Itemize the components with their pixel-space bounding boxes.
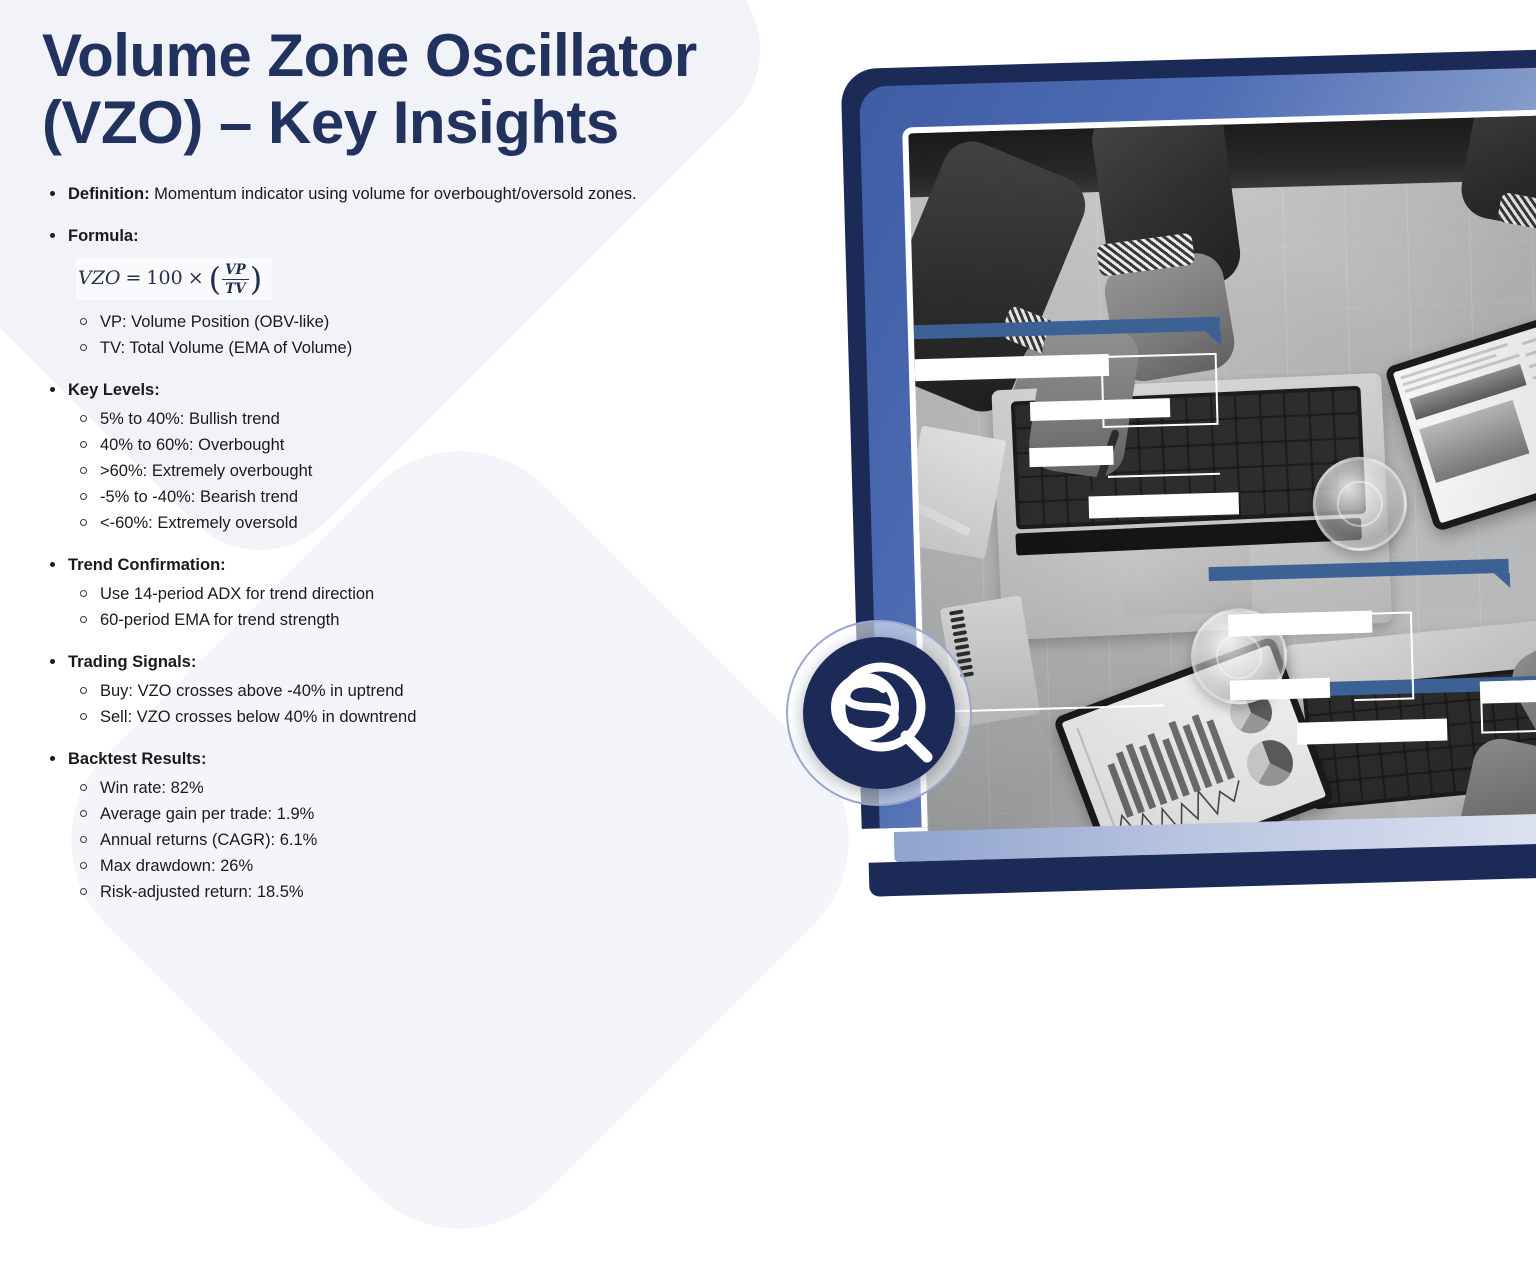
list-item: TV: Total Volume (EMA of Volume) <box>68 335 780 361</box>
outline-item-label: Key Levels: <box>68 381 160 399</box>
list-item: Average gain per trade: 1.9% <box>68 801 780 827</box>
outline-item-heading: Trading Signals: <box>68 650 780 675</box>
outline-item-label: Trading Signals: <box>68 653 196 671</box>
list-item: 40% to 60%: Overbought <box>68 432 780 458</box>
list-item: Buy: VZO crosses above -40% in uptrend <box>68 678 780 704</box>
formula-block: VZO = 100 × ( VP TV ) <box>76 258 272 300</box>
list-item: VP: Volume Position (OBV-like) <box>68 309 780 335</box>
callout-outline-3 <box>1352 611 1414 701</box>
outline-item-trend-confirmation: Trend Confirmation: Use 14-period ADX fo… <box>42 553 780 633</box>
outline-sublist: Buy: VZO crosses above -40% in uptrend S… <box>68 678 780 730</box>
page-title-line-2: (VZO) – Key Insights <box>42 89 619 156</box>
callout-bar-4 <box>1089 492 1240 518</box>
formula-equals: = <box>121 267 147 289</box>
sq-magnifier-icon <box>803 637 955 789</box>
outline-sublist: 5% to 40%: Bullish trend 40% to 60%: Ove… <box>68 406 780 536</box>
list-item: -5% to -40%: Bearish trend <box>68 484 780 510</box>
formula-coefficient: 100 <box>146 267 182 289</box>
insights-outline: Definition: Momentum indicator using vol… <box>42 182 780 905</box>
list-item: Use 14-period ADX for trend direction <box>68 581 780 607</box>
vzo-formula: VZO = 100 × ( VP TV ) <box>78 261 262 296</box>
formula-denominator: TV <box>222 279 249 297</box>
formula-times: × <box>183 267 209 289</box>
formula-numerator: VP <box>222 262 249 279</box>
callout-bar-2 <box>1030 398 1170 421</box>
callout-bar-5 <box>1228 611 1373 637</box>
outline-item-definition: Definition: Momentum indicator using vol… <box>42 182 780 207</box>
callout-outline-2 <box>1107 425 1220 478</box>
outline-sublist: Win rate: 82% Average gain per trade: 1.… <box>68 775 780 905</box>
outline-item-label: Trend Confirmation: <box>68 556 226 574</box>
list-item: Win rate: 82% <box>68 775 780 801</box>
outline-item-heading: Key Levels: <box>68 378 780 403</box>
list-item: Max drawdown: 26% <box>68 853 780 879</box>
outline-item-text: Momentum indicator using volume for over… <box>150 185 637 203</box>
formula-lhs: VZO <box>78 267 121 289</box>
content-column: Volume Zone Oscillator (VZO) – Key Insig… <box>0 0 820 965</box>
page-title-line-1: Volume Zone Oscillator <box>42 22 697 89</box>
callout-bar-3 <box>1029 446 1113 467</box>
page-title: Volume Zone Oscillator (VZO) – Key Insig… <box>42 22 780 156</box>
workspace-photo <box>908 114 1536 833</box>
list-item: 5% to 40%: Bullish trend <box>68 406 780 432</box>
list-item: 60-period EMA for trend strength <box>68 607 780 633</box>
outline-item-trading-signals: Trading Signals: Buy: VZO crosses above … <box>42 650 780 730</box>
list-item: >60%: Extremely overbought <box>68 458 780 484</box>
list-item: Sell: VZO crosses below 40% in downtrend <box>68 704 780 730</box>
list-item: Annual returns (CAGR): 6.1% <box>68 827 780 853</box>
list-item: <-60%: Extremely oversold <box>68 510 780 536</box>
outline-item-label: Formula: <box>68 227 139 245</box>
brand-logo-badge <box>786 620 972 806</box>
outline-item-heading: Trend Confirmation: <box>68 553 780 578</box>
callout-bar-6 <box>1230 678 1331 701</box>
outline-item-key-levels: Key Levels: 5% to 40%: Bullish trend 40%… <box>42 378 780 536</box>
outline-sublist: VP: Volume Position (OBV-like) TV: Total… <box>68 309 780 361</box>
outline-item-backtest-results: Backtest Results: Win rate: 82% Average … <box>42 747 780 905</box>
callout-outline-4 <box>1480 679 1536 733</box>
formula-fraction: VP TV <box>222 262 249 297</box>
outline-item-heading: Backtest Results: <box>68 747 780 772</box>
outline-item-label: Definition: <box>68 185 150 203</box>
outline-item-label: Backtest Results: <box>68 750 206 768</box>
callout-bar-7 <box>1297 719 1448 745</box>
outline-item-heading: Definition: Momentum indicator using vol… <box>68 182 780 207</box>
list-item: Risk-adjusted return: 18.5% <box>68 879 780 905</box>
outline-item-heading: Formula: <box>68 224 780 249</box>
outline-sublist: Use 14-period ADX for trend direction 60… <box>68 581 780 633</box>
outline-item-formula: Formula: VZO = 100 × ( VP TV ) VP: Volum <box>42 224 780 361</box>
